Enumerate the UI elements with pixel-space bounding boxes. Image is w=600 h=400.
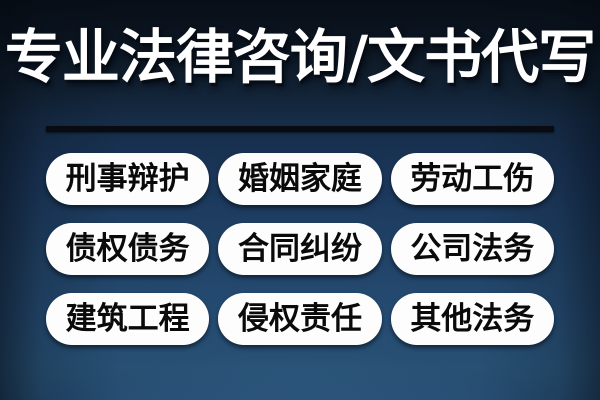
legal-services-poster: 专业法律咨询/文书代写 刑事辩护 婚姻家庭 劳动工伤 债权债务 合同纠纷 公司法…: [0, 0, 600, 400]
service-pill-labor-injury[interactable]: 劳动工伤: [391, 153, 554, 205]
title-divider: [46, 126, 554, 132]
service-pill-row: 刑事辩护 婚姻家庭 劳动工伤: [46, 153, 554, 205]
service-pill-debt-claims[interactable]: 债权债务: [46, 223, 209, 275]
poster-content: 专业法律咨询/文书代写 刑事辩护 婚姻家庭 劳动工伤 债权债务 合同纠纷 公司法…: [0, 0, 600, 400]
service-pill-contract-disputes[interactable]: 合同纠纷: [218, 223, 381, 275]
service-pill-row: 建筑工程 侵权责任 其他法务: [46, 293, 554, 345]
service-pill-row: 债权债务 合同纠纷 公司法务: [46, 223, 554, 275]
service-pill-other-legal[interactable]: 其他法务: [391, 293, 554, 345]
page-title: 专业法律咨询/文书代写: [0, 28, 600, 86]
service-pill-marriage-family[interactable]: 婚姻家庭: [218, 153, 381, 205]
service-pill-corporate-legal[interactable]: 公司法务: [391, 223, 554, 275]
service-pill-grid: 刑事辩护 婚姻家庭 劳动工伤 债权债务 合同纠纷 公司法务 建筑工程 侵权责任 …: [46, 153, 554, 345]
service-pill-construction-engineering[interactable]: 建筑工程: [46, 293, 209, 345]
service-pill-tort-liability[interactable]: 侵权责任: [218, 293, 381, 345]
service-pill-criminal-defense[interactable]: 刑事辩护: [46, 153, 209, 205]
